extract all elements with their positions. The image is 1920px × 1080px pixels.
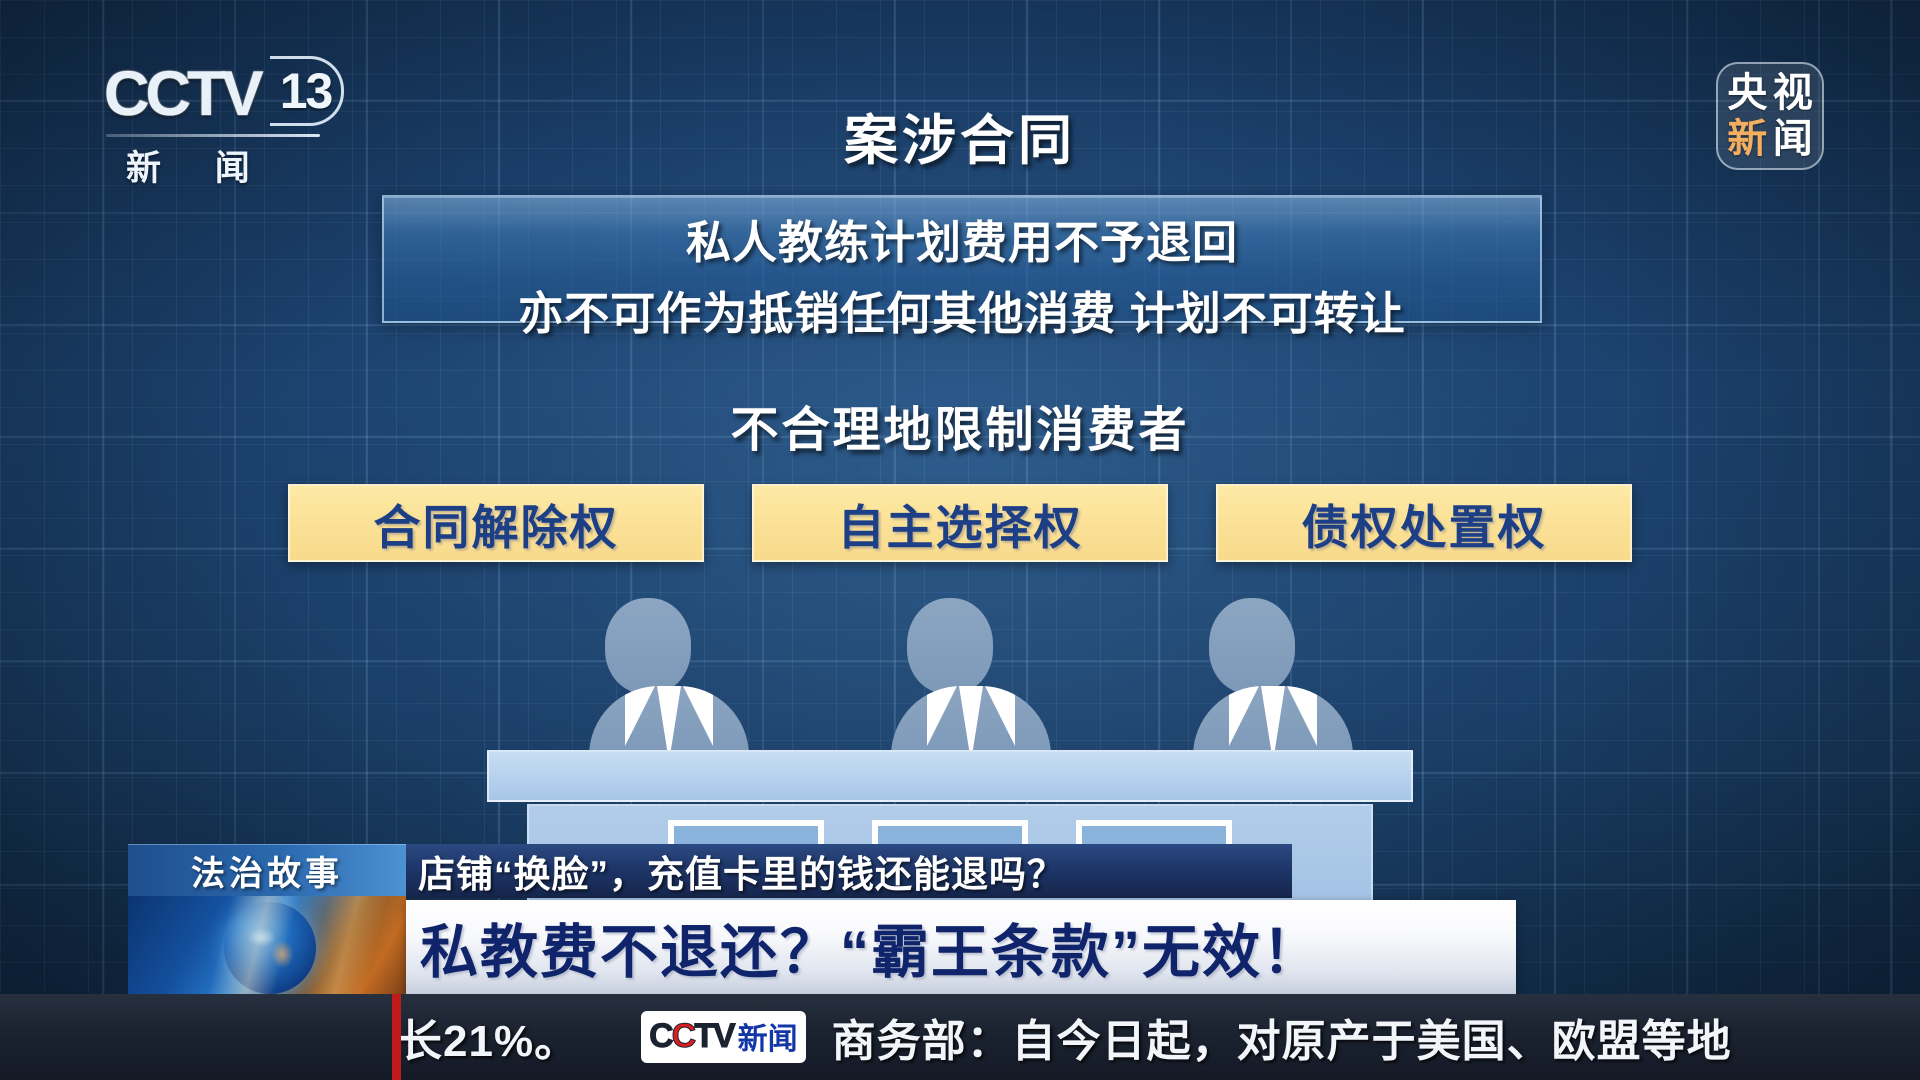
collar-right (1287, 686, 1317, 746)
podium-illustration (575, 598, 1325, 838)
broadcast-screen: CCTV 13 新 闻 央 视 新 闻 案涉合同 私人教练计划费用不予退回 亦不… (0, 0, 1920, 1080)
sub-headline-bar: 店铺“换脸”，充值卡里的钱还能退吗？ (406, 844, 1292, 898)
ticker-logo-xinwen-text: 新闻 (738, 1014, 798, 1058)
person-head-icon (605, 598, 691, 694)
main-headline-text: 私教费不退还？“霸王条款”无效！ (420, 905, 1322, 989)
collar-right (985, 686, 1015, 746)
sub-headline-text: 店铺“换脸”，充值卡里的钱还能退吗？ (418, 844, 1065, 898)
main-headline-bar: 私教费不退还？“霸王条款”无效！ (406, 900, 1516, 994)
right-chip-label-1: 合同解除权 (374, 489, 619, 558)
collar-left (927, 686, 957, 746)
news-ticker: 长21%。 CCTV 新闻 商务部：自今日起，对原产于美国、欧盟等地 (0, 994, 1920, 1080)
podium-desk-top (487, 750, 1413, 802)
right-chip-contract-termination: 合同解除权 (288, 484, 704, 562)
ticker-red-tab (392, 994, 401, 1080)
collar-left (1229, 686, 1259, 746)
graphic-title: 案涉合同 (0, 96, 1920, 175)
collar-right (683, 686, 713, 746)
program-globe-logo (128, 896, 406, 996)
restriction-statement: 不合理地限制消费者 (0, 390, 1920, 460)
person-head-icon (1209, 598, 1295, 694)
contract-clause-box: 私人教练计划费用不予退回 亦不可作为抵销任何其他消费 计划不可转让 (382, 195, 1542, 323)
ticker-content: 长21%。 CCTV 新闻 商务部：自今日起，对原产于美国、欧盟等地 (0, 1005, 1732, 1069)
ticker-cctv-news-logo: CCTV 新闻 (641, 1011, 806, 1063)
right-chip-label-3: 债权处置权 (1302, 489, 1547, 558)
program-label-text: 法治故事 (191, 846, 343, 895)
consumer-rights-row: 合同解除权 自主选择权 债权处置权 (288, 484, 1632, 562)
right-chip-claim-disposal: 债权处置权 (1216, 484, 1632, 562)
ticker-headline-text: 商务部：自今日起，对原产于美国、欧盟等地 (832, 1005, 1732, 1069)
ticker-lead-fragment: 长21%。 (398, 1005, 579, 1069)
contract-clause-line-1: 私人教练计划费用不予退回 (384, 206, 1540, 271)
program-label: 法治故事 (128, 844, 406, 896)
right-chip-label-2: 自主选择权 (838, 489, 1083, 558)
person-head-icon (907, 598, 993, 694)
ticker-logo-cctv-text: CCTV (649, 1017, 734, 1056)
contract-clause-line-2: 亦不可作为抵销任何其他消费 计划不可转让 (384, 277, 1540, 342)
collar-left (625, 686, 655, 746)
right-chip-free-choice: 自主选择权 (752, 484, 1168, 562)
globe-light-streak (128, 896, 406, 996)
